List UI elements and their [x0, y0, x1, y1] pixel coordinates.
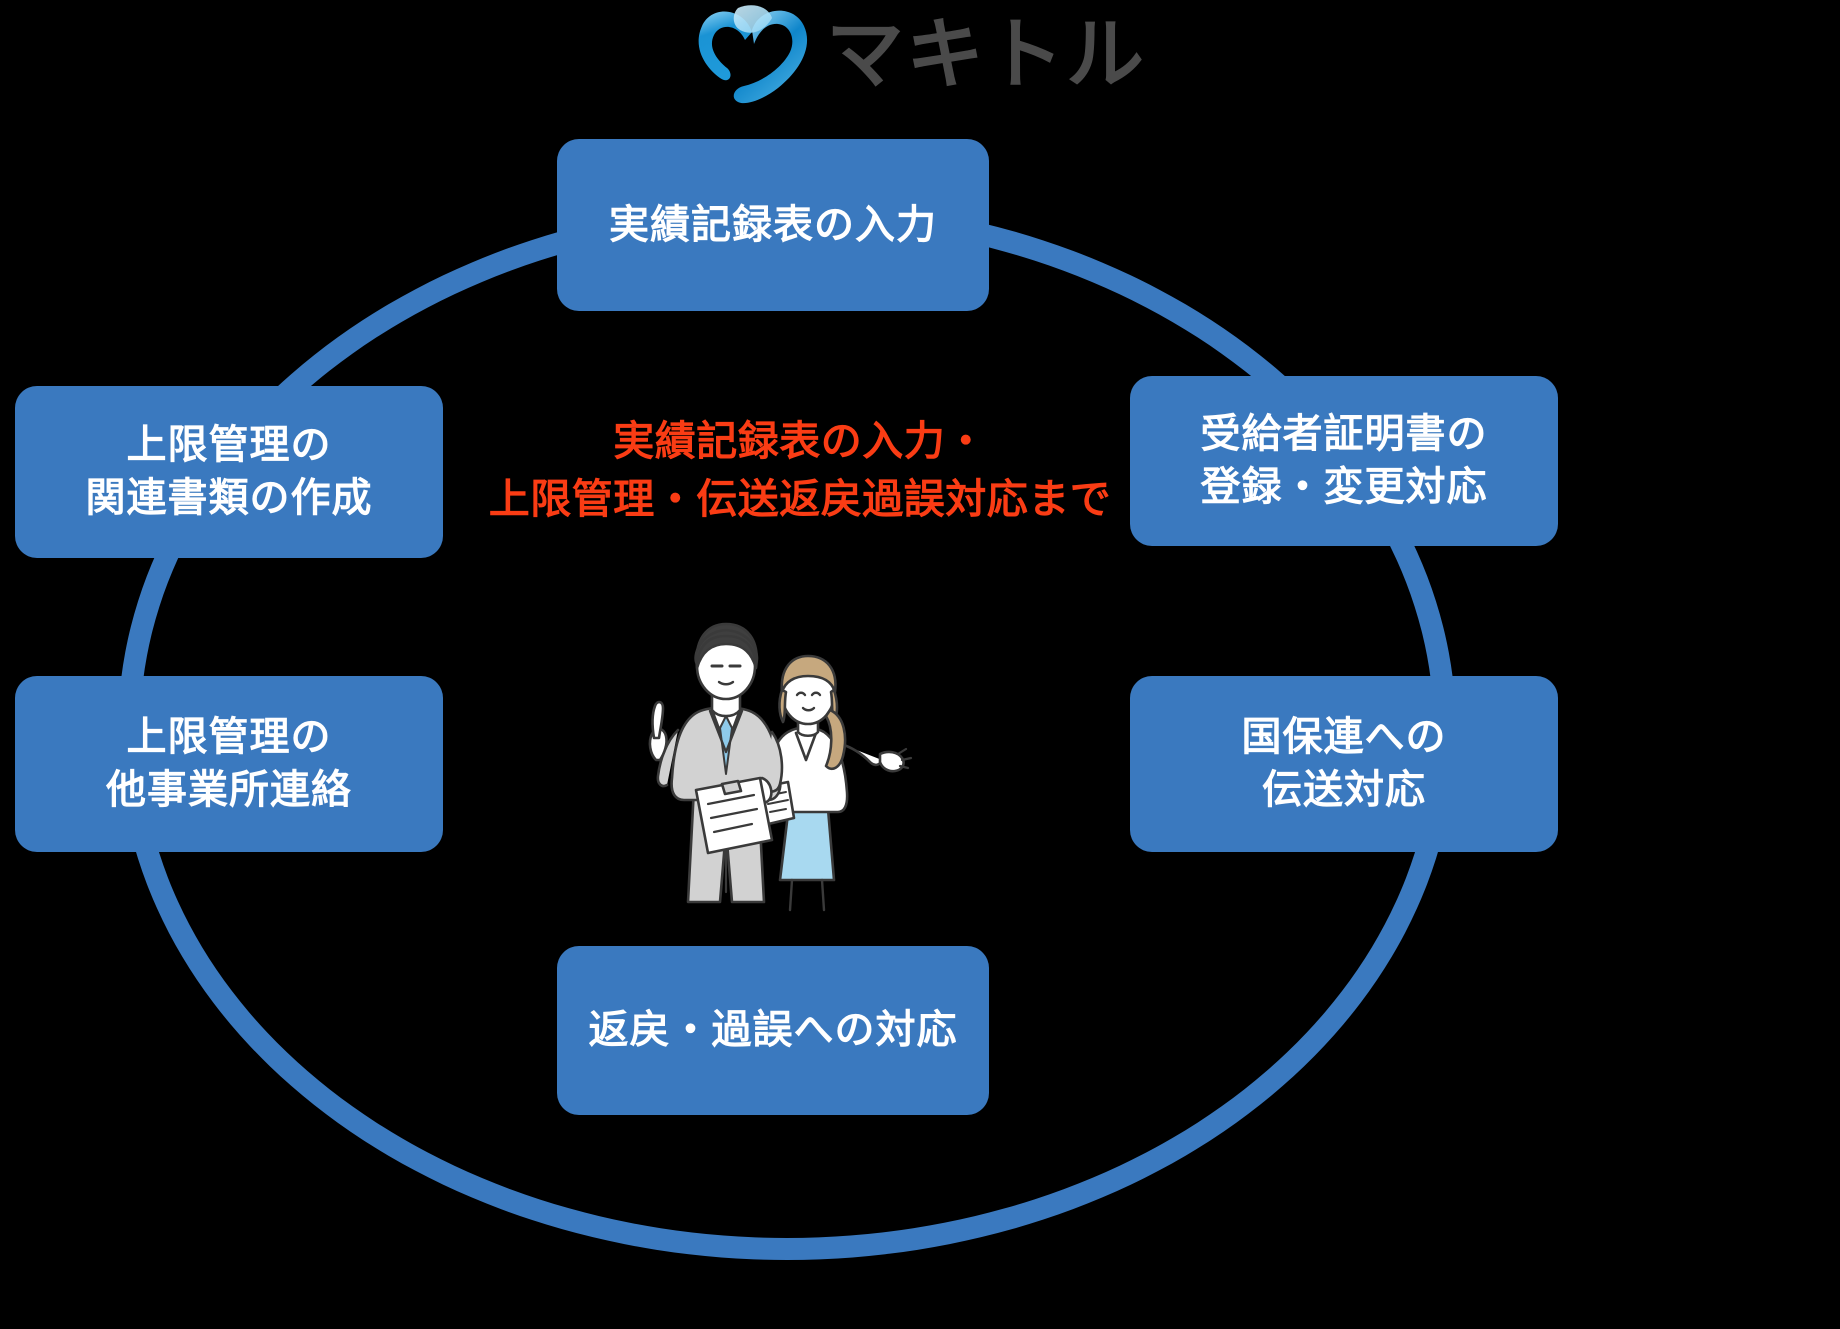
center-caption-line-1: 実績記録表の入力・ — [460, 412, 1140, 470]
cycle-node-lower-left[interactable]: 上限管理の 他事業所連絡 — [15, 676, 443, 852]
cycle-node-upper-left[interactable]: 上限管理の 関連書類の作成 — [15, 386, 443, 558]
cycle-node-upper-right[interactable]: 受給者証明書の 登録・変更対応 — [1130, 376, 1558, 546]
cycle-node-lower-left-line-2: 他事業所連絡 — [106, 764, 352, 817]
cycle-node-lower-right[interactable]: 国保連への 伝送対応 — [1130, 676, 1558, 852]
brand-name: マキトル — [826, 15, 1146, 93]
cycle-node-lower-left-line-1: 上限管理の — [106, 711, 352, 764]
cycle-node-upper-left-line-2: 関連書類の作成 — [86, 472, 373, 525]
cycle-node-lower-right-line-2: 伝送対応 — [1242, 764, 1447, 817]
cycle-node-bottom-line-1: 返戻・過誤への対応 — [589, 1004, 958, 1057]
cycle-node-upper-left-line-1: 上限管理の — [86, 419, 373, 472]
cycle-node-lower-right-line-1: 国保連への — [1242, 711, 1447, 764]
cycle-node-upper-right-line-2: 登録・変更対応 — [1201, 461, 1488, 514]
heart-swirl-logo-icon — [694, 2, 810, 106]
center-caption-line-2: 上限管理・伝送返戻過誤対応まで — [460, 470, 1140, 528]
cycle-node-upper-right-line-1: 受給者証明書の — [1201, 408, 1488, 461]
cycle-node-bottom[interactable]: 返戻・過誤への対応 — [557, 946, 989, 1115]
center-caption: 実績記録表の入力・ 上限管理・伝送返戻過誤対応まで — [460, 412, 1140, 528]
infographic-canvas: マキトル 実績記録表の入力 受給者証明書の 登録・変更対応 国保連への 伝送対応… — [0, 0, 1840, 1329]
cycle-node-top[interactable]: 実績記録表の入力 — [557, 139, 989, 311]
brand-logo: マキトル — [0, 2, 1840, 106]
two-business-people-illustration — [612, 592, 972, 927]
cycle-node-top-line-1: 実績記録表の入力 — [609, 199, 937, 252]
